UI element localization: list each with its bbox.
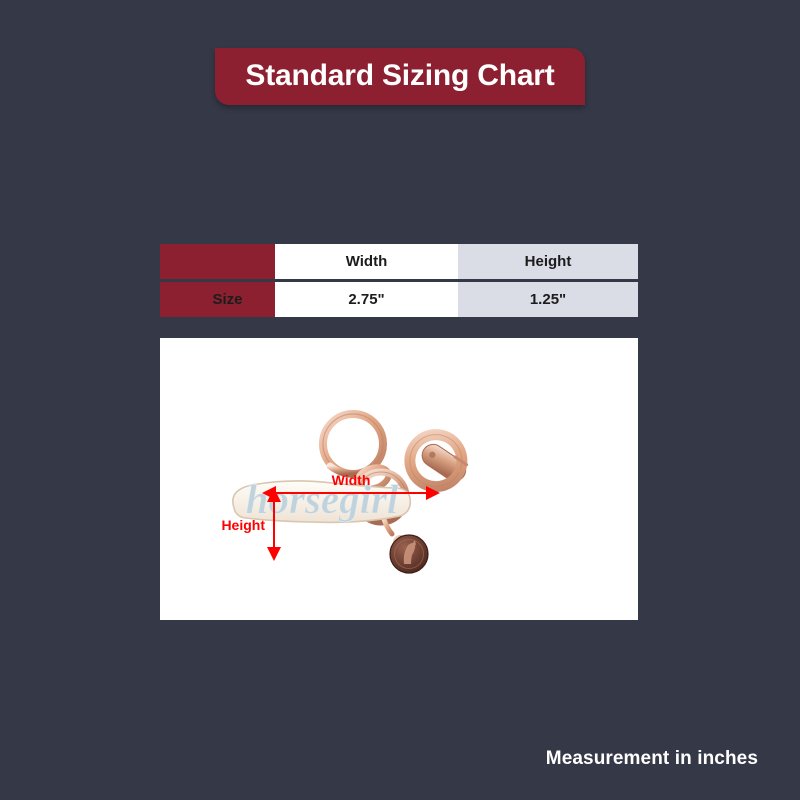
- horsegirl-name-charm: horsegirl: [233, 476, 410, 522]
- height-annotation-label: Height: [221, 517, 265, 533]
- column-header-width: Width: [275, 244, 458, 279]
- cell-size-width: 2.75": [275, 282, 458, 317]
- column-header-height: Height: [458, 244, 638, 279]
- charm-script-text: horsegirl: [246, 476, 399, 522]
- table-corner-cell: [160, 244, 275, 279]
- width-annotation-label: Width: [332, 472, 371, 488]
- row-label-size: Size: [160, 282, 275, 317]
- table-row: Size 2.75" 1.25": [160, 282, 638, 317]
- sizing-chart-table: Width Height Size 2.75" 1.25": [160, 241, 638, 320]
- lobster-clasp-icon: [400, 425, 477, 500]
- table-header-row: Width Height: [160, 244, 638, 279]
- product-image-panel: horsegirl Width Height: [160, 338, 638, 620]
- coin-charm-icon: [384, 519, 428, 573]
- page-title: Standard Sizing Chart: [215, 48, 584, 105]
- cell-size-height: 1.25": [458, 282, 638, 317]
- title-banner-container: Standard Sizing Chart: [0, 48, 800, 105]
- measurement-unit-note: Measurement in inches: [546, 748, 758, 770]
- keychain-product-illustration: horsegirl Width Height: [160, 338, 638, 620]
